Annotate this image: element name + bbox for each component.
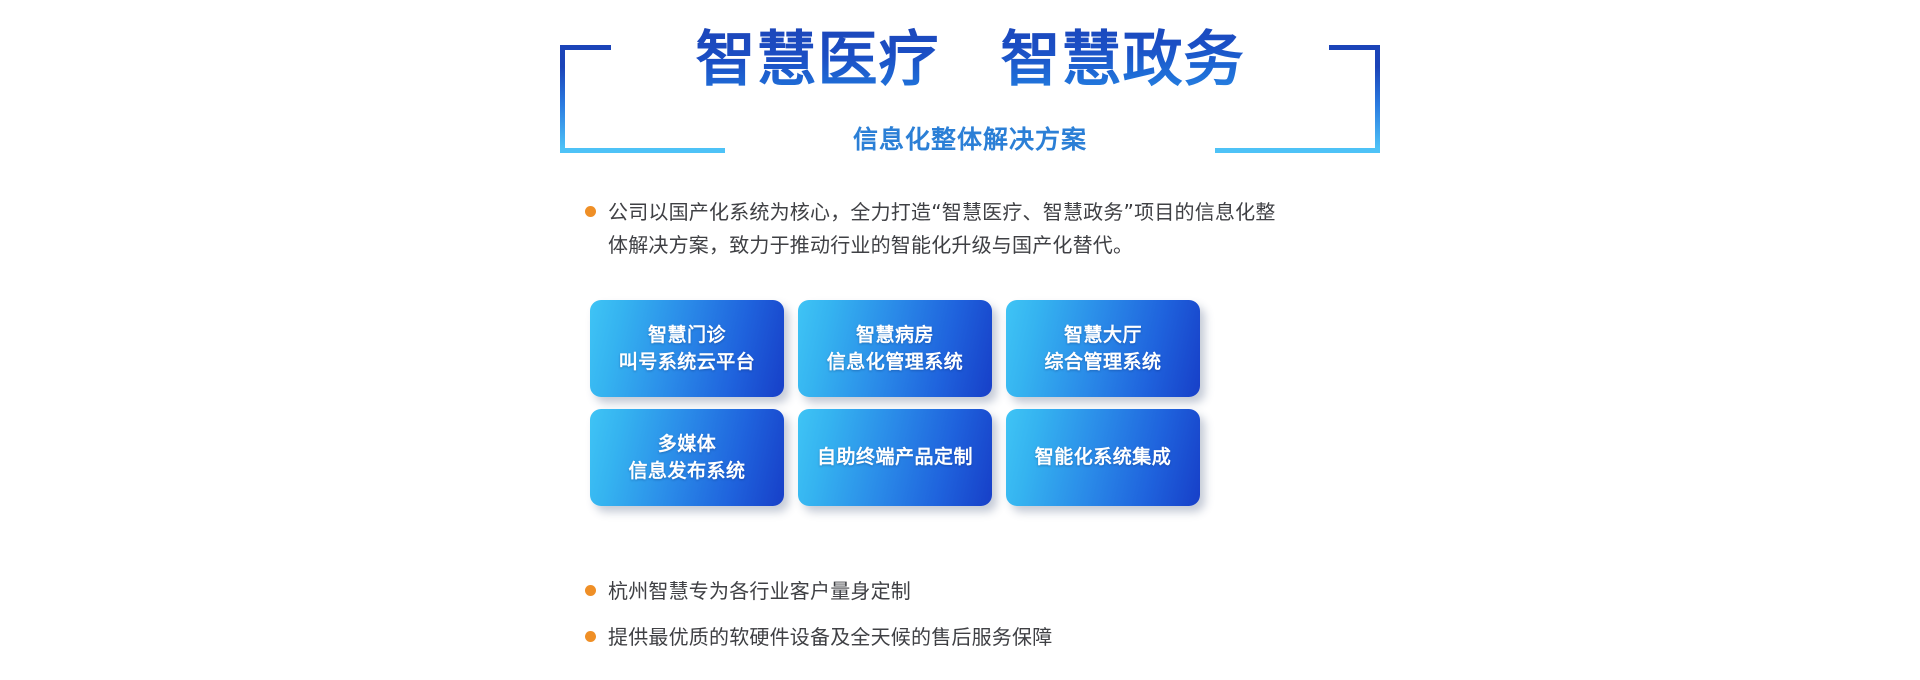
feature-bullet-list: 杭州智慧专为各行业客户量身定制 提供最优质的软硬件设备及全天候的售后服务保障 <box>585 578 1052 670</box>
list-item: 提供最优质的软硬件设备及全天候的售后服务保障 <box>585 624 1052 650</box>
solution-card[interactable]: 智慧大厅 综合管理系统 <box>1006 300 1200 397</box>
solution-card-label: 智慧门诊 叫号系统云平台 <box>619 322 756 376</box>
solution-card[interactable]: 智能化系统集成 <box>1006 409 1200 506</box>
bullet-dot-icon <box>585 631 596 642</box>
intro-text: 公司以国产化系统为核心，全力打造“智慧医疗、智慧政务”项目的信息化整体解决方案，… <box>608 196 1285 262</box>
intro-paragraph: 公司以国产化系统为核心，全力打造“智慧医疗、智慧政务”项目的信息化整体解决方案，… <box>585 196 1285 262</box>
solution-card-grid: 智慧门诊 叫号系统云平台 智慧病房 信息化管理系统 智慧大厅 综合管理系统 多媒… <box>590 300 1210 506</box>
subtitle-row: 信息化整体解决方案 <box>560 120 1380 156</box>
page-title: 智慧医疗 智慧政务 <box>560 22 1380 98</box>
bullet-text: 提供最优质的软硬件设备及全天候的售后服务保障 <box>608 624 1052 650</box>
bullet-text: 杭州智慧专为各行业客户量身定制 <box>608 578 911 604</box>
page-subtitle: 信息化整体解决方案 <box>847 120 1093 156</box>
solution-card-label: 多媒体 信息发布系统 <box>628 431 745 485</box>
header-block: 智慧医疗 智慧政务 信息化整体解决方案 <box>560 22 1380 147</box>
promo-banner: 智慧医疗 智慧政务 信息化整体解决方案 公司以国产化系统为核心，全力打造“智慧医… <box>0 0 1920 680</box>
bullet-dot-icon <box>585 206 596 217</box>
solution-card[interactable]: 智慧门诊 叫号系统云平台 <box>590 300 784 397</box>
bracket-bottom-gap <box>710 161 1230 167</box>
solution-card[interactable]: 多媒体 信息发布系统 <box>590 409 784 506</box>
subtitle-rule-left <box>711 136 829 141</box>
bullet-dot-icon <box>585 585 596 596</box>
solution-card-label: 自助终端产品定制 <box>817 444 973 471</box>
solution-card[interactable]: 自助终端产品定制 <box>798 409 992 506</box>
solution-card-label: 智慧病房 信息化管理系统 <box>827 322 964 376</box>
solution-card[interactable]: 智慧病房 信息化管理系统 <box>798 300 992 397</box>
subtitle-rule-right <box>1111 136 1229 141</box>
solution-card-label: 智慧大厅 综合管理系统 <box>1044 322 1161 376</box>
solution-card-label: 智能化系统集成 <box>1035 444 1172 471</box>
list-item: 杭州智慧专为各行业客户量身定制 <box>585 578 1052 604</box>
